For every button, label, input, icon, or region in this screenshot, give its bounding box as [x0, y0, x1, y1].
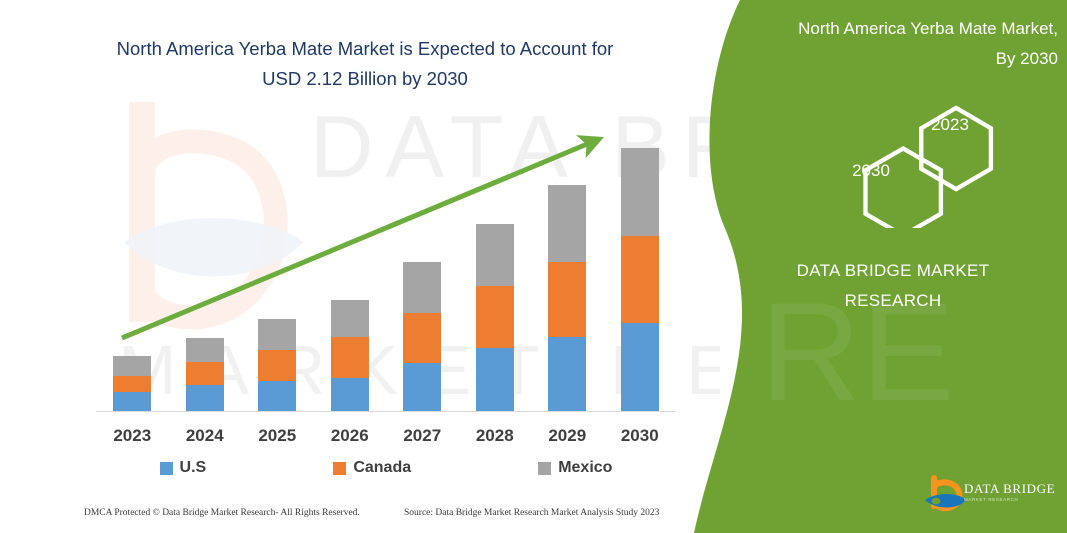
bar-segment-canada	[331, 337, 369, 378]
bar-segment-mexico	[548, 185, 586, 262]
stacked-bar[interactable]	[621, 148, 659, 411]
legend-label: U.S	[180, 459, 207, 477]
brand-name: DATA BRIDGE MARKET RESEARCH	[728, 256, 1058, 316]
page-title-line1: North America Yerba Mate Market is Expec…	[80, 34, 650, 64]
bar-segment-canada	[186, 362, 224, 385]
panel-content: North America Yerba Mate Market, By 2030…	[718, 0, 1067, 533]
legend-item-canada[interactable]: Canada	[333, 459, 411, 477]
x-axis-label-2023: 2023	[96, 426, 169, 452]
brand-line1: DATA BRIDGE MARKET	[728, 256, 1058, 286]
bar-slot	[169, 338, 242, 411]
bar-slot	[604, 148, 677, 411]
bar-segment-mexico	[113, 356, 151, 376]
stacked-bar[interactable]	[186, 338, 224, 411]
brand-line2: RESEARCH	[728, 286, 1058, 316]
hexagon-shapes	[718, 88, 1067, 228]
panel-title: North America Yerba Mate Market, By 2030	[738, 14, 1058, 74]
x-axis-labels: 20232024202520262027202820292030	[96, 426, 676, 452]
stacked-bar[interactable]	[113, 356, 151, 411]
x-axis-label-2029: 2029	[531, 426, 604, 452]
infographic-canvas: DATA BRIDGE MARKET RESEARCH RE North Ame…	[0, 0, 1067, 533]
stacked-bar[interactable]	[548, 185, 586, 411]
footer-source: Source: Data Bridge Market Research Mark…	[404, 508, 659, 518]
bar-segment-mexico	[258, 319, 296, 350]
footer-copyright: DMCA Protected © Data Bridge Market Rese…	[84, 508, 360, 518]
bar-segment-mexico	[331, 300, 369, 337]
hexagon-group: 2023 2030	[718, 88, 1067, 228]
bar-segment-canada	[621, 236, 659, 323]
bar-slot	[531, 185, 604, 411]
x-axis-label-2030: 2030	[604, 426, 677, 452]
chart-legend: U.SCanadaMexico	[96, 455, 676, 481]
bar-segment-us	[258, 381, 296, 411]
bar-segment-us	[548, 337, 586, 411]
stacked-bar[interactable]	[258, 319, 296, 411]
page-title-line2: USD 2.12 Billion by 2030	[80, 64, 650, 94]
hexagon-2023-label: 2023	[910, 115, 990, 135]
bar-segment-mexico	[476, 224, 514, 286]
page-title: North America Yerba Mate Market is Expec…	[80, 34, 650, 94]
x-axis-line	[96, 411, 676, 412]
legend-swatch-icon	[333, 462, 346, 475]
stacked-bar[interactable]	[331, 300, 369, 411]
bar-segment-us	[331, 378, 369, 411]
bar-segment-canada	[548, 262, 586, 337]
x-axis-label-2028: 2028	[459, 426, 532, 452]
bar-slot	[96, 356, 169, 411]
legend-swatch-icon	[160, 462, 173, 475]
bar-segment-mexico	[621, 148, 659, 236]
x-axis-label-2025: 2025	[241, 426, 314, 452]
bar-segment-us	[476, 348, 514, 411]
legend-label: Canada	[353, 459, 411, 477]
bar-slot	[459, 224, 532, 411]
legend-item-mexico[interactable]: Mexico	[538, 459, 612, 477]
x-axis-label-2026: 2026	[314, 426, 387, 452]
bar-segment-us	[113, 392, 151, 411]
logo-tagline: MARKET RESEARCH	[964, 497, 1067, 502]
bar-slot	[241, 319, 314, 411]
bar-segment-mexico	[186, 338, 224, 362]
bar-segment-us	[186, 385, 224, 411]
logo-wordmark: DATA BRIDGE	[964, 481, 1064, 497]
x-axis-label-2024: 2024	[169, 426, 242, 452]
bar-segment-mexico	[403, 262, 441, 313]
bar-segment-canada	[258, 350, 296, 381]
panel-title-line2: By 2030	[738, 44, 1058, 74]
hexagon-2030-label: 2030	[831, 161, 911, 181]
panel-title-line1: North America Yerba Mate Market,	[738, 14, 1058, 44]
chart-plot-area	[96, 120, 676, 412]
x-axis-label-2027: 2027	[386, 426, 459, 452]
stacked-bar[interactable]	[476, 224, 514, 411]
legend-item-us[interactable]: U.S	[160, 459, 207, 477]
legend-swatch-icon	[538, 462, 551, 475]
bar-segment-canada	[476, 286, 514, 348]
bar-segment-us	[621, 323, 659, 411]
bar-segment-canada	[403, 313, 441, 363]
footer: DMCA Protected © Data Bridge Market Rese…	[84, 508, 684, 524]
stacked-bar[interactable]	[403, 262, 441, 411]
bar-group	[96, 120, 676, 411]
bar-slot	[386, 262, 459, 411]
bar-segment-canada	[113, 376, 151, 392]
bar-segment-us	[403, 363, 441, 411]
legend-label: Mexico	[558, 459, 612, 477]
bar-slot	[314, 300, 387, 411]
